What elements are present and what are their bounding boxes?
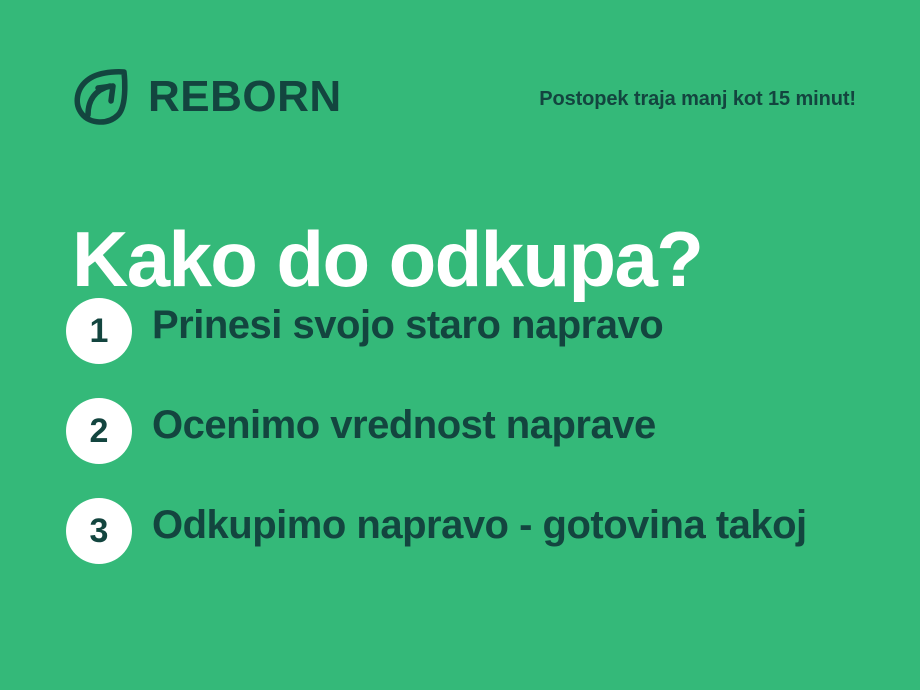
tagline: Postopek traja manj kot 15 minut! — [539, 88, 856, 111]
list-item: 3 Odkupimo napravo - gotovina takoj — [66, 498, 876, 564]
step-label: Odkupimo napravo - gotovina takoj — [152, 497, 807, 554]
list-item: 2 Ocenimo vrednost naprave — [66, 398, 876, 464]
steps-list: 1 Prinesi svojo staro napravo 2 Ocenimo … — [66, 298, 876, 564]
promo-poster: REBORN Postopek traja manj kot 15 minut!… — [0, 0, 920, 690]
page-title: Kako do odkupa? — [72, 220, 702, 298]
step-number-badge: 2 — [66, 398, 132, 464]
step-label: Prinesi svojo staro napravo — [152, 297, 663, 354]
step-label: Ocenimo vrednost naprave — [152, 397, 656, 454]
list-item: 1 Prinesi svojo staro napravo — [66, 298, 876, 364]
brand-logo[interactable]: REBORN — [72, 66, 342, 128]
brand-name: REBORN — [148, 75, 342, 119]
leaf-arrow-icon — [72, 66, 134, 128]
step-number-badge: 3 — [66, 498, 132, 564]
header: REBORN Postopek traja manj kot 15 minut! — [72, 66, 862, 128]
step-number-badge: 1 — [66, 298, 132, 364]
